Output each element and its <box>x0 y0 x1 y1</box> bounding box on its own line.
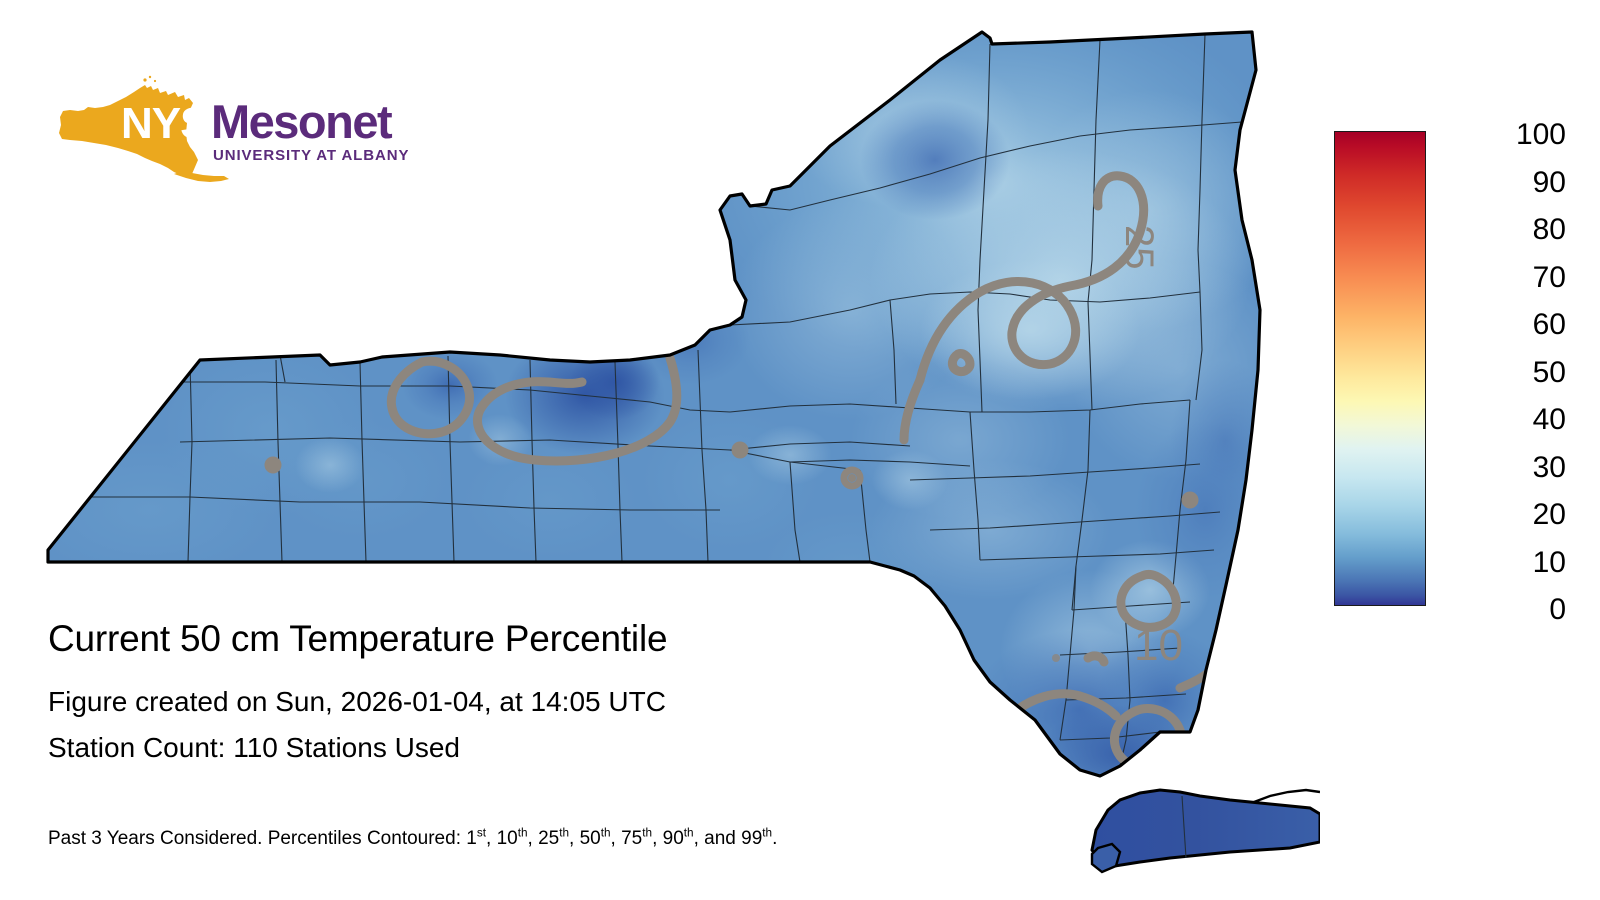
footnote-value: 75 <box>621 828 642 849</box>
station-marker <box>1185 495 1195 505</box>
footnote-value: 50 <box>580 828 601 849</box>
colorbar-tick-50: 50 <box>1434 358 1566 388</box>
colorbar-tick-90: 90 <box>1434 168 1566 198</box>
footnote-ordinal-7: 99th <box>741 828 772 849</box>
figure-caption-block: Current 50 cm Temperature Percentile Fig… <box>48 616 1058 766</box>
footnote-suffix: th <box>642 827 652 840</box>
footnote-ordinal-1: 1st <box>466 828 486 849</box>
footnote-ordinal-4: 50th <box>580 828 611 849</box>
footnote-value: 10 <box>497 828 518 849</box>
station-marker <box>268 460 279 471</box>
figure-station-count: Station Count: 110 Stations Used <box>48 730 1058 766</box>
footnote-value: 90 <box>663 828 684 849</box>
colorbar-tick-0: 0 <box>1434 595 1566 625</box>
figure-created-stamp: Figure created on Sun, 2026-01-04, at 14… <box>48 684 1058 720</box>
station-marker <box>848 474 856 482</box>
figure-title: Current 50 cm Temperature Percentile <box>48 616 1058 662</box>
staten-island <box>1092 844 1120 872</box>
footnote-suffix: th <box>601 827 611 840</box>
footnote-prefix: Past 3 Years Considered. Percentiles Con… <box>48 828 466 849</box>
footnote-suffix: th <box>762 827 772 840</box>
figure-footnote: Past 3 Years Considered. Percentiles Con… <box>48 826 777 852</box>
footnote-suffix: th <box>684 827 694 840</box>
long-island-region <box>1092 790 1320 872</box>
footnote-ordinal-3: 25th <box>538 828 569 849</box>
footnote-value: 99 <box>741 828 762 849</box>
colorbar-tick-80: 80 <box>1434 215 1566 245</box>
colorbar-tick-10: 10 <box>1434 548 1566 578</box>
station-marker <box>735 445 746 456</box>
colorbar-tick-70: 70 <box>1434 263 1566 293</box>
colorbar: 100 90 80 70 60 50 40 30 20 10 0 <box>1334 120 1574 620</box>
long-island-forks <box>1254 790 1320 802</box>
colorbar-tick-30: 30 <box>1434 453 1566 483</box>
footnote-suffix: th <box>559 827 569 840</box>
colorbar-tick-40: 40 <box>1434 405 1566 435</box>
footnote-value: 1 <box>466 828 477 849</box>
footnote-suffix: st <box>477 827 486 840</box>
colorbar-tick-labels: 100 90 80 70 60 50 40 30 20 10 0 <box>1434 120 1566 620</box>
colorbar-tick-20: 20 <box>1434 500 1566 530</box>
contour-label-10: 10 <box>1134 621 1183 670</box>
footnote-ordinal-6: 90th <box>663 828 694 849</box>
colorbar-tick-100: 100 <box>1434 120 1566 150</box>
contour-label-25: 25 <box>1117 225 1161 270</box>
footnote-ordinal-2: 10th <box>497 828 528 849</box>
footnote-value: 25 <box>538 828 559 849</box>
colorbar-gradient <box>1334 131 1426 606</box>
footnote-suffix: th <box>518 827 528 840</box>
colorbar-tick-60: 60 <box>1434 310 1566 340</box>
footnote-ordinal-5: 75th <box>621 828 652 849</box>
